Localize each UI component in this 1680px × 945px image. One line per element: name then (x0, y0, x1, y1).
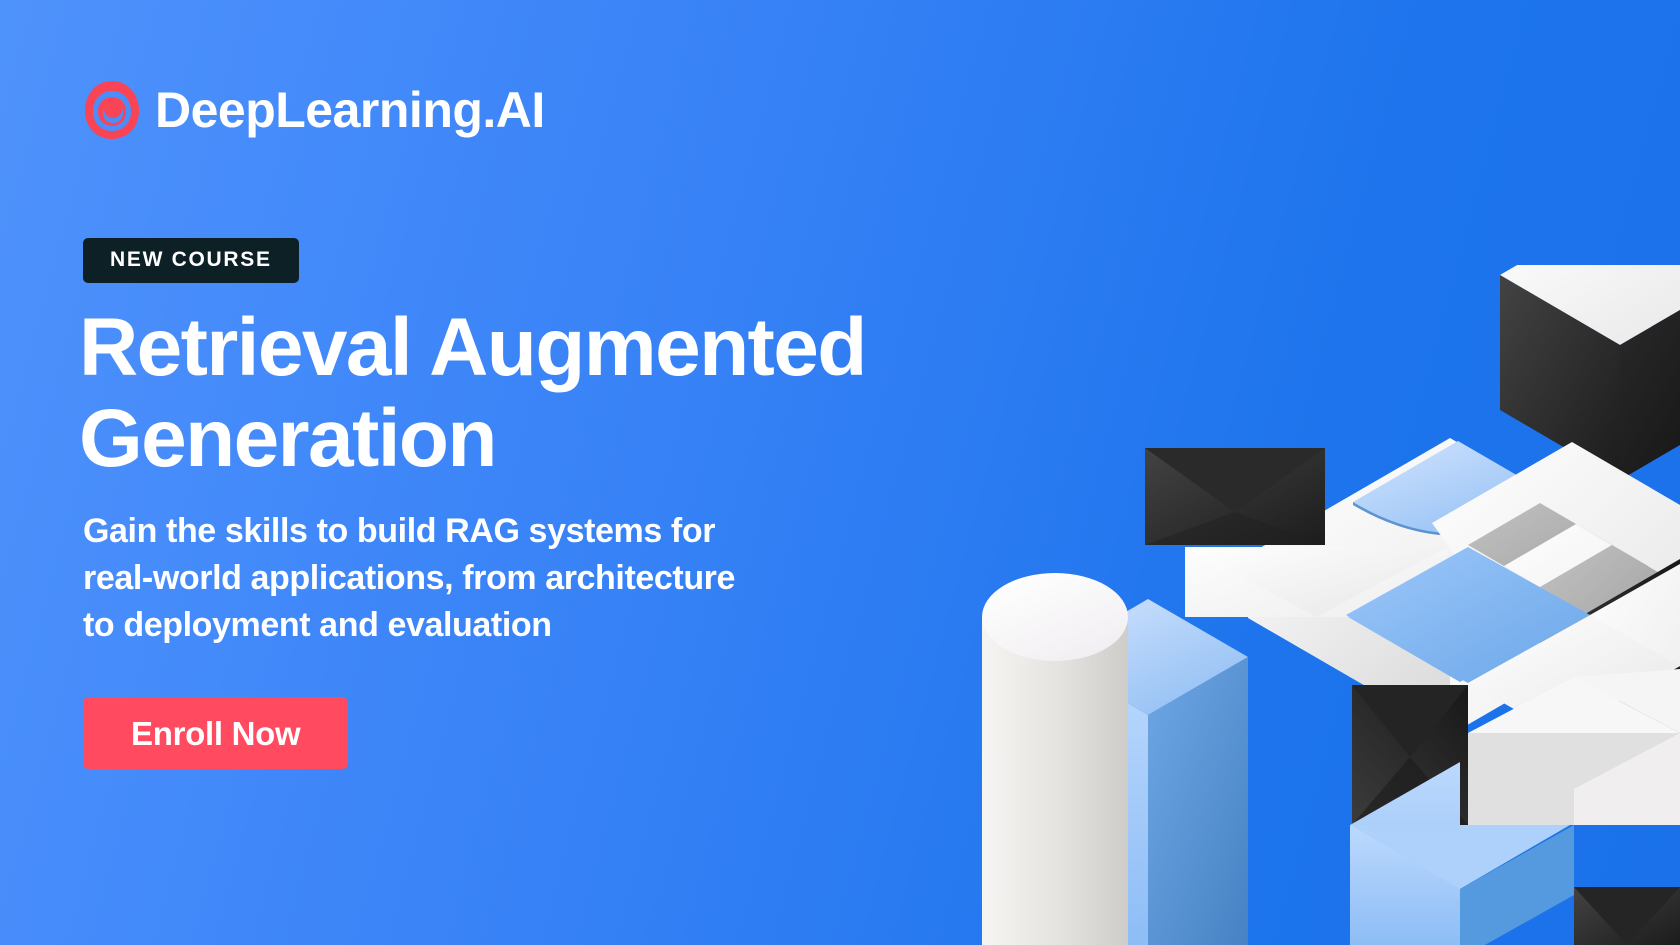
subheadline-line-3: to deployment and evaluation (83, 602, 963, 649)
isometric-geometric-artwork (980, 265, 1680, 945)
shape-dark-block-right-mid (1540, 559, 1680, 743)
enroll-now-label: Enroll Now (131, 717, 300, 750)
shape-white-platform-main (1248, 438, 1652, 735)
new-course-badge: NEW COURSE (83, 238, 299, 283)
shape-blue-cone-upper (1353, 441, 1563, 536)
page-title: Retrieval Augmented Generation (79, 302, 979, 484)
banner-content: DeepLearning.AI NEW COURSE Retrieval Aug… (83, 0, 983, 945)
shape-dark-block-left (1145, 447, 1325, 545)
shape-white-cylinder-front (982, 573, 1128, 945)
subheadline-line-1: Gain the skills to build RAG systems for (83, 508, 963, 555)
shape-blue-cube-lower-mid (1350, 762, 1574, 945)
subheadline-line-2: real-world applications, from architectu… (83, 555, 963, 602)
badge-label: NEW COURSE (110, 248, 272, 271)
shape-blue-dish-top (1390, 383, 1630, 487)
brand-name: DeepLearning.AI (155, 85, 545, 135)
shape-white-slab-lower-left (1185, 545, 1448, 617)
shape-blue-tall-cube-front (1048, 597, 1248, 945)
headline-line-1: Retrieval Augmented (79, 302, 979, 393)
brand-logo[interactable]: DeepLearning.AI (83, 79, 545, 141)
shape-white-slab-lower-right (1468, 667, 1680, 825)
shape-blue-wedge-lower (1350, 825, 1574, 945)
shape-white-diamond-right (1468, 564, 1680, 734)
shape-dark-wedge-center (1352, 685, 1468, 825)
shape-dark-cube-topright (1500, 265, 1680, 480)
concentric-rings-logo-icon (83, 79, 141, 141)
promo-banner: DeepLearning.AI NEW COURSE Retrieval Aug… (0, 0, 1680, 945)
enroll-now-button[interactable]: Enroll Now (83, 697, 348, 769)
headline-line-2: Generation (79, 393, 979, 484)
shape-blue-cube-center (1348, 552, 1572, 825)
shape-blue-cylinder-back (1130, 657, 1238, 945)
page-subtitle: Gain the skills to build RAG systems for… (83, 508, 963, 649)
shape-striped-stairs-right (1432, 442, 1680, 738)
shape-blue-diamond-center (1346, 547, 1590, 683)
shape-dark-block-lower-right (1574, 887, 1680, 945)
